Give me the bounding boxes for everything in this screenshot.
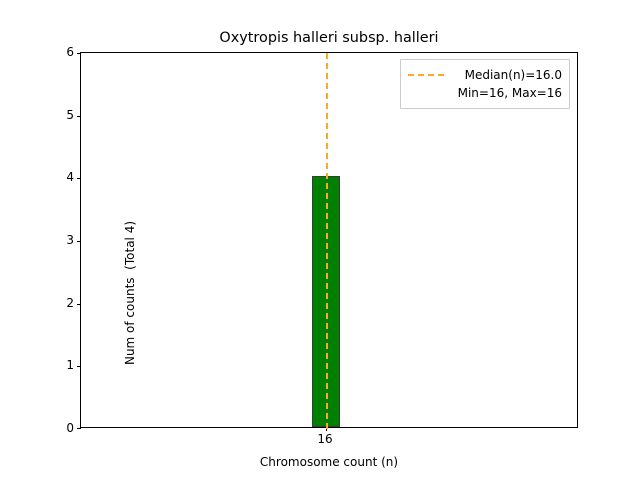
- plot-inner: [81, 53, 577, 427]
- y-tick-mark-3: [77, 241, 81, 242]
- y-tick-label-1: 1: [14, 359, 74, 371]
- y-tick-mark-6: [77, 53, 81, 54]
- legend-entry-minmax: Min=16, Max=16: [408, 84, 562, 102]
- legend-label-minmax: Min=16, Max=16: [452, 86, 562, 100]
- y-tick-label-4: 4: [14, 171, 74, 183]
- legend-entry-median: Median(n)=16.0: [408, 66, 562, 84]
- y-axis-label: Num of counts (Total 4): [123, 105, 139, 480]
- y-tick-label-2: 2: [14, 297, 74, 309]
- x-axis-label: Chromosome count (n): [80, 455, 578, 469]
- y-tick-label-3: 3: [14, 234, 74, 246]
- y-tick-mark-2: [77, 304, 81, 305]
- dashed-line-icon: [408, 74, 444, 76]
- y-tick-mark-1: [77, 366, 81, 367]
- y-tick-mark-5: [77, 116, 81, 117]
- page-title: Oxytropis halleri subsp. halleri: [80, 30, 578, 46]
- legend: Median(n)=16.0 Min=16, Max=16: [400, 59, 570, 109]
- median-line: [326, 53, 328, 429]
- y-tick-label-5: 5: [14, 109, 74, 121]
- chart-figure: Oxytropis halleri subsp. halleri 6 5 4 3…: [0, 0, 640, 480]
- y-tick-mark-4: [77, 178, 81, 179]
- y-tick-label-6: 6: [14, 46, 74, 58]
- y-tick-mark-0: [77, 428, 81, 429]
- y-tick-label-0: 0: [14, 422, 74, 434]
- legend-label-median: Median(n)=16.0: [452, 68, 562, 82]
- x-tick-label-16: 16: [285, 433, 365, 445]
